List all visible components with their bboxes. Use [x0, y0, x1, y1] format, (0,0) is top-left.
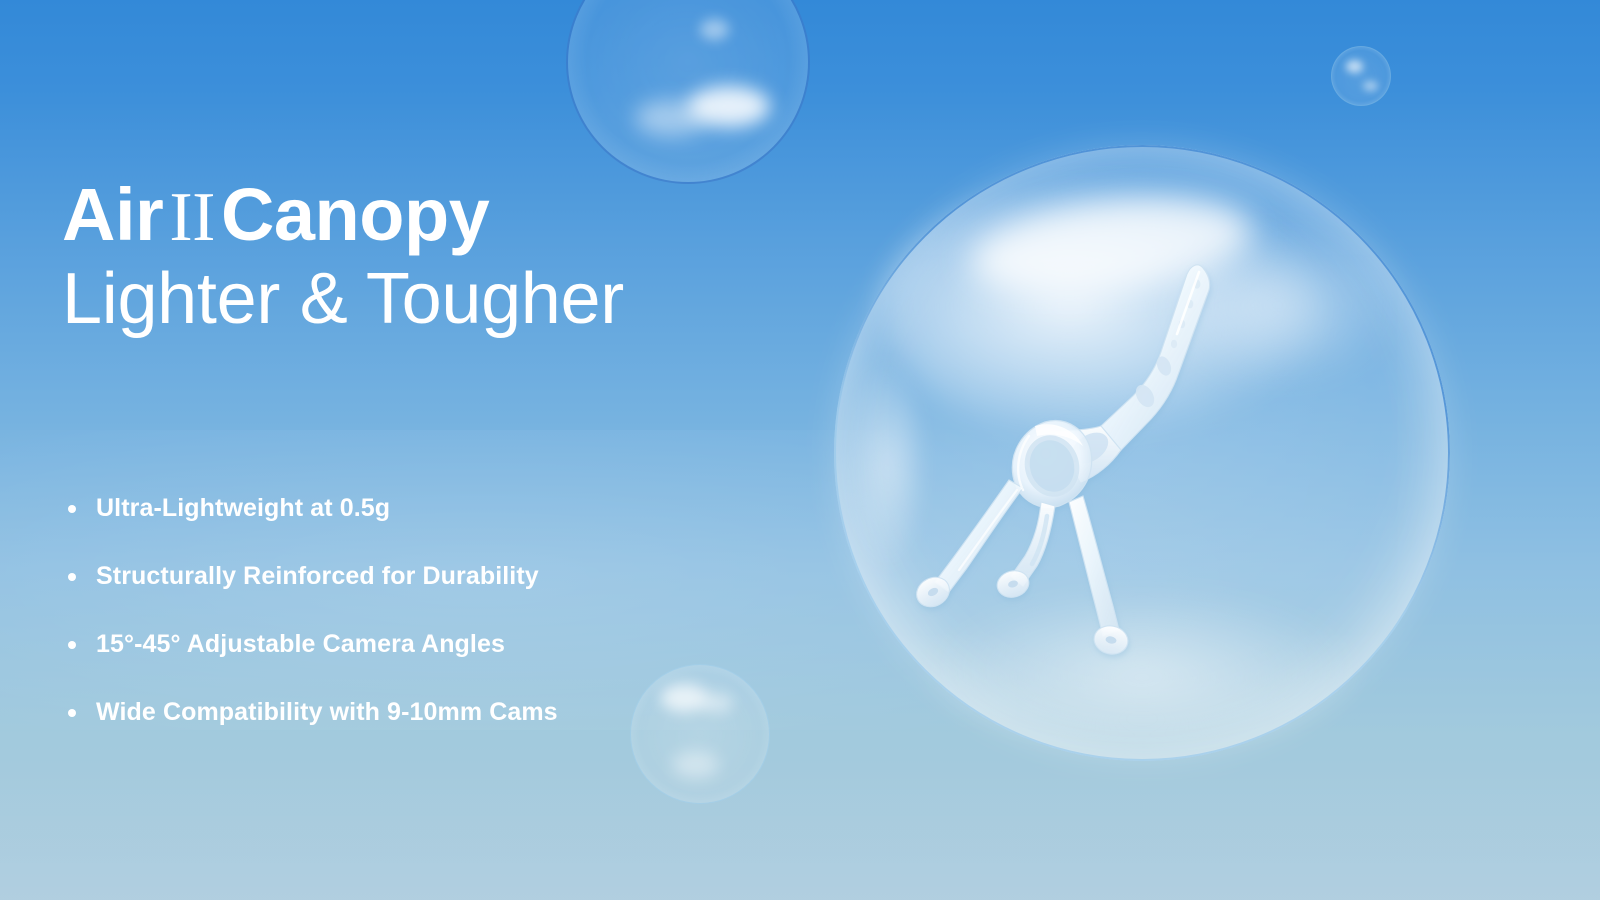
bubble-highlight: [700, 19, 729, 41]
feature-item: 15°-45° Adjustable Camera Angles: [62, 622, 822, 690]
feature-list: Ultra-Lightweight at 0.5g Structurally R…: [62, 486, 822, 758]
headline-line-2: Lighter & Tougher: [62, 259, 822, 340]
product-banner: AirIICanopy Lighter & Tougher Ultra-Ligh…: [0, 0, 1600, 900]
product-image-drone-canopy: [905, 240, 1285, 670]
feature-item: Structurally Reinforced for Durability: [62, 554, 822, 622]
bubble-highlight: [1346, 60, 1363, 73]
headline-word-air: Air: [62, 173, 163, 256]
bubble-highlight: [1363, 81, 1378, 91]
feature-item: Wide Compatibility with 9-10mm Cams: [62, 690, 822, 758]
feature-item: Ultra-Lightweight at 0.5g: [62, 486, 822, 554]
bubble-highlight: [635, 100, 707, 136]
headline-roman-numeral: II: [163, 179, 221, 256]
bubble-top-partial: [566, 0, 810, 184]
headline-line-1: AirIICanopy: [62, 178, 822, 253]
headline-block: AirIICanopy Lighter & Tougher: [62, 178, 822, 340]
background-haze-lower: [0, 760, 1600, 900]
bubble-small: [1331, 46, 1391, 106]
headline-word-canopy: Canopy: [221, 173, 489, 256]
